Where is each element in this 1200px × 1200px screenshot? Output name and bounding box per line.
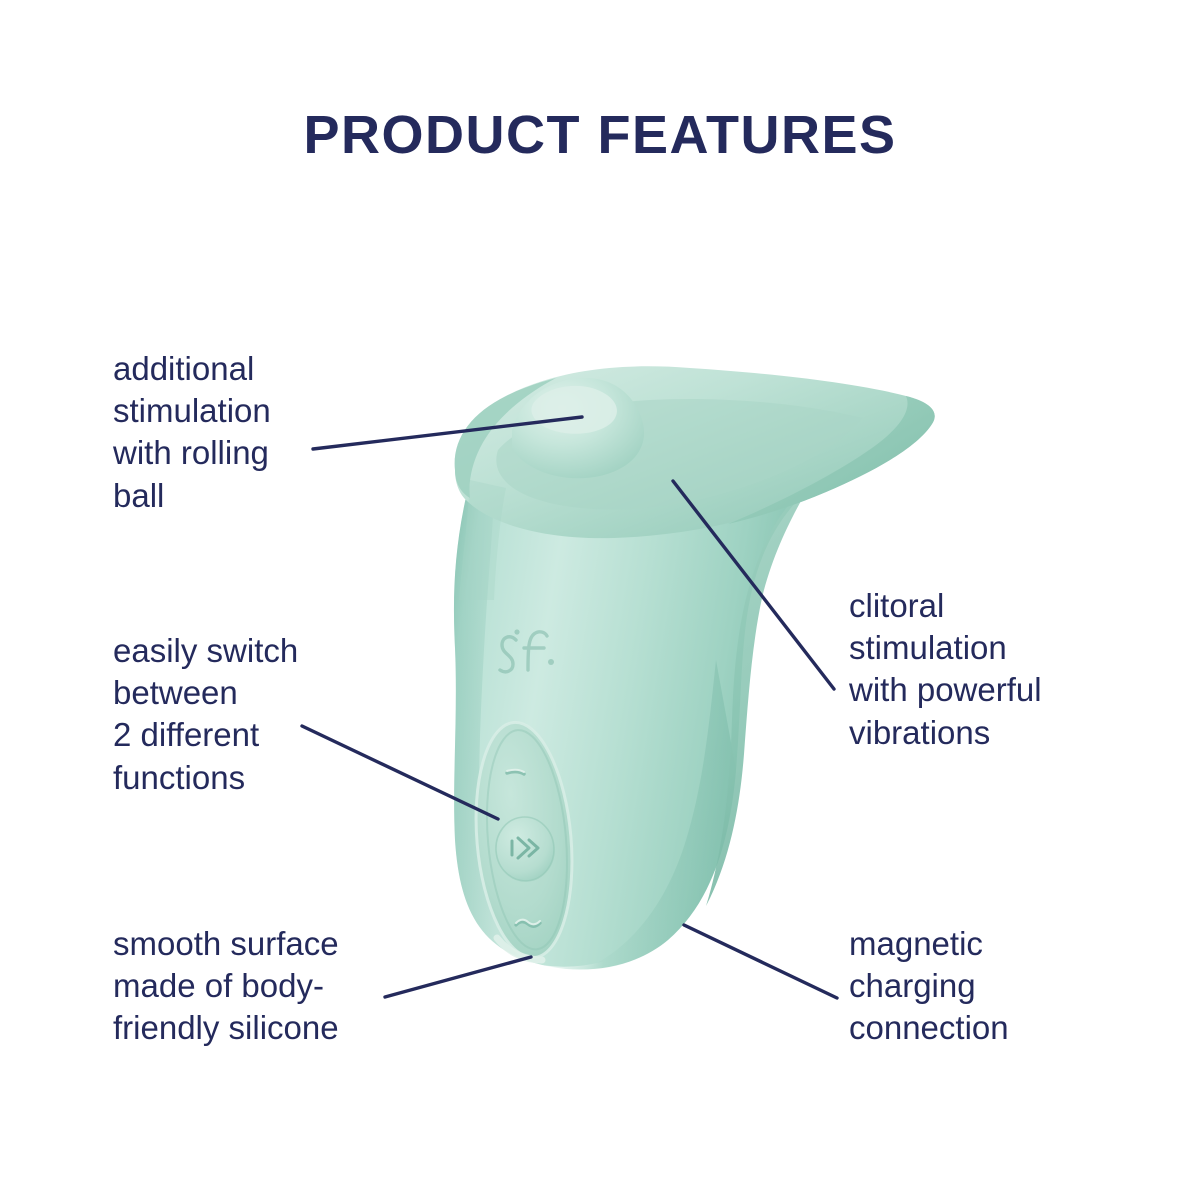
feature-label-magnetic: magnetic charging connection [849,923,1139,1050]
feature-label-functions: easily switch between 2 different functi… [113,630,413,799]
feature-label-clitoral: clitoral stimulation with powerful vibra… [849,585,1139,754]
feature-label-rolling-ball: additional stimulation with rolling ball [113,348,393,517]
leader-magnetic [684,925,837,998]
feature-label-silicone: smooth surface made of body- friendly si… [113,923,443,1050]
leader-clitoral [673,481,834,689]
infographic-canvas: PRODUCT FEATURES [0,0,1200,1200]
